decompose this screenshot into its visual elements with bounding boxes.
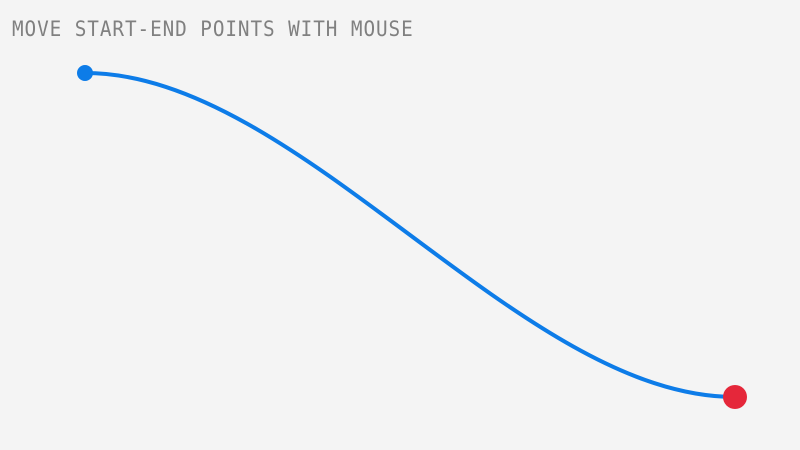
bezier-canvas[interactable] bbox=[0, 0, 800, 450]
curve-editor-canvas-root: MOVE START-END POINTS WITH MOUSE bbox=[0, 0, 800, 450]
start-point-handle[interactable] bbox=[77, 65, 93, 81]
end-point-handle[interactable] bbox=[723, 385, 747, 409]
bezier-curve-path bbox=[85, 73, 735, 397]
